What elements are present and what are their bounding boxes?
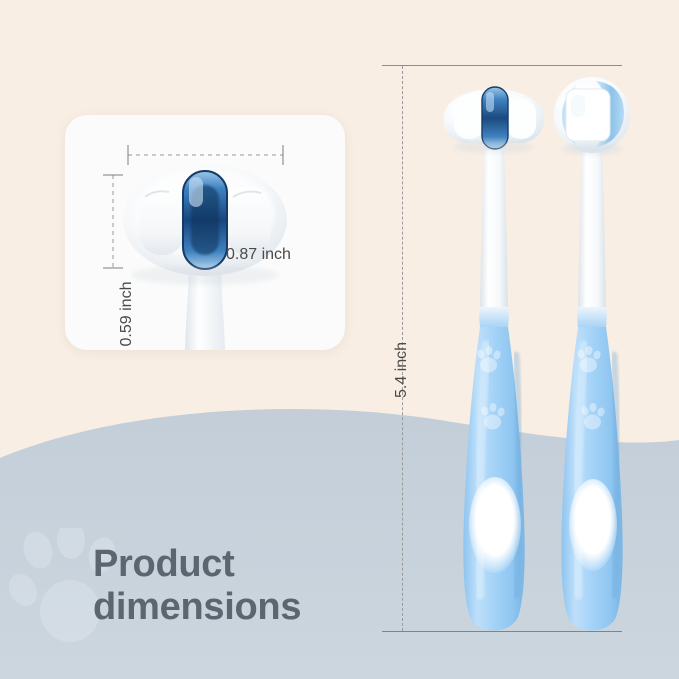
bristle-strip-gloss [189,177,203,207]
handle-transition-1 [479,305,509,327]
handle-transition-2 [577,305,607,327]
bristle-pad-right-1 [506,99,536,139]
toothbrush-angled-view [554,77,630,631]
height-dimension-label: 0.59 inch [118,282,136,347]
bristle-pad-left-1 [454,99,484,139]
brush-head-closeup-illustration [65,115,345,350]
head-shadow-1 [454,141,534,153]
head-shadow-2 [562,143,622,155]
width-dimension-label: 0.87 inch [226,246,291,264]
brush-head-detail-card: 0.87 inch 0.59 inch [65,115,345,350]
brush-neck-1 [480,150,508,307]
handle-shade-2 [614,355,618,595]
brush-neck-2 [578,150,606,307]
product-dimensions-infographic: Product dimensions [0,0,679,679]
page-title: Product dimensions [93,543,423,628]
toothbrush-pair-illustration [400,55,660,635]
head-shadow [131,265,279,285]
bristle-face-gloss-2 [571,95,585,117]
page-title-line-1: Product [93,543,423,586]
toothbrush-front-view [444,87,545,631]
bristle-strip-center-1 [482,87,508,149]
grip-oval-2 [569,479,617,571]
bristle-pad-right [225,187,271,255]
grip-oval-1 [469,477,521,573]
page-title-line-2: dimensions [93,586,423,629]
handle-shade-1 [516,355,520,595]
bristle-strip-gloss-1 [486,92,494,112]
